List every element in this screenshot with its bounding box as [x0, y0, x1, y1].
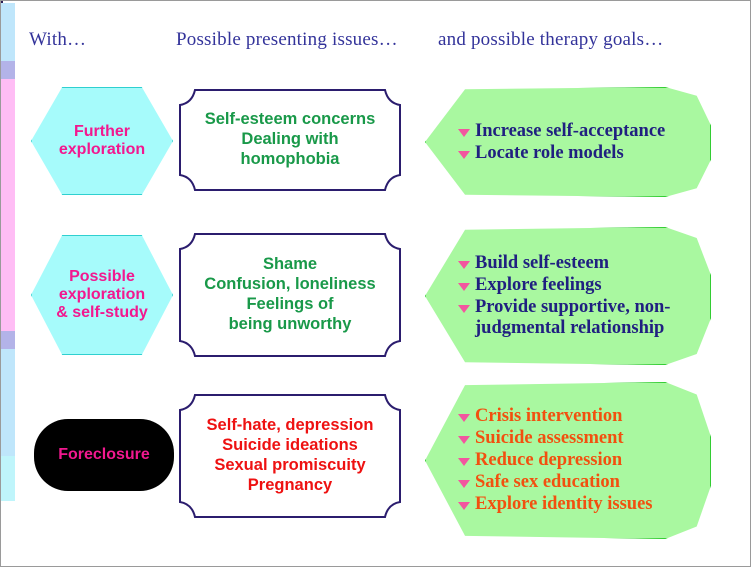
issues-card-further-exploration[interactable]: Self-esteem concernsDealing withhomophob…: [179, 89, 401, 191]
goal-item: Reduce depression: [458, 450, 702, 471]
triangle-bullet-icon: [458, 129, 470, 137]
goal-item: Safe sex education: [458, 472, 702, 493]
triangle-bullet-icon: [458, 283, 470, 291]
goals-shape-further-exploration[interactable]: Increase self-acceptanceLocate role mode…: [425, 87, 711, 197]
triangle-bullet-icon: [458, 436, 470, 444]
goal-item: Crisis intervention: [458, 406, 702, 427]
goal-item-label: Reduce depression: [475, 450, 622, 470]
goals-shape-foreclosure[interactable]: Crisis interventionSuicide assessmentRed…: [425, 382, 711, 539]
goal-item-label: Provide supportive, non-judgmental relat…: [475, 297, 670, 338]
goal-item-label: Suicide assessment: [475, 428, 624, 448]
slide-canvas: With… Possible presenting issues… and po…: [0, 0, 751, 567]
goal-item-label: Build self-esteem: [475, 253, 609, 273]
column-header-goals: and possible therapy goals…: [438, 29, 663, 51]
stage-shape-possible-exploration[interactable]: Possibleexploration& self-study: [31, 235, 173, 355]
goal-item-label: Increase self-acceptance: [475, 121, 665, 141]
goal-item-label: Locate role models: [475, 143, 624, 163]
table-row: FurtherexplorationSelf-esteem concernsDe…: [1, 87, 751, 207]
strip-segment-0: [1, 3, 15, 61]
triangle-bullet-icon: [458, 261, 470, 269]
goal-item-label: Explore identity issues: [475, 494, 652, 514]
issues-text-further-exploration: Self-esteem concernsDealing withhomophob…: [195, 110, 386, 169]
goal-item-label: Crisis intervention: [475, 406, 622, 426]
goal-item: Explore feelings: [458, 275, 702, 296]
goal-item: Explore identity issues: [458, 494, 702, 515]
triangle-bullet-icon: [458, 305, 470, 313]
stage-shape-foreclosure[interactable]: Foreclosure: [34, 419, 174, 491]
goal-item: Increase self-acceptance: [458, 121, 702, 142]
triangle-bullet-icon: [458, 502, 470, 510]
goal-item: Provide supportive, non-judgmental relat…: [458, 297, 702, 339]
goals-list-possible-exploration: Build self-esteemExplore feelingsProvide…: [426, 252, 710, 340]
issues-card-foreclosure[interactable]: Self-hate, depressionSuicide ideationsSe…: [179, 394, 401, 518]
triangle-bullet-icon: [458, 151, 470, 159]
issues-text-foreclosure: Self-hate, depressionSuicide ideationsSe…: [197, 416, 384, 495]
table-row: ForeclosureSelf-hate, depressionSuicide …: [1, 382, 751, 542]
issues-card-possible-exploration[interactable]: ShameConfusion, lonelinessFeelings ofbei…: [179, 233, 401, 357]
goals-list-further-exploration: Increase self-acceptanceLocate role mode…: [426, 120, 710, 165]
goal-item: Suicide assessment: [458, 428, 702, 449]
goal-item-label: Safe sex education: [475, 472, 620, 492]
triangle-bullet-icon: [458, 414, 470, 422]
table-row: Possibleexploration& self-studyShameConf…: [1, 227, 751, 367]
goals-shape-possible-exploration[interactable]: Build self-esteemExplore feelingsProvide…: [425, 227, 711, 365]
goal-item: Locate role models: [458, 143, 702, 164]
goal-item: Build self-esteem: [458, 253, 702, 274]
column-header-with: With…: [29, 29, 86, 51]
triangle-bullet-icon: [458, 458, 470, 466]
goals-list-foreclosure: Crisis interventionSuicide assessmentRed…: [426, 405, 710, 515]
issues-text-possible-exploration: ShameConfusion, lonelinessFeelings ofbei…: [194, 255, 385, 334]
stage-shape-further-exploration[interactable]: Furtherexploration: [31, 87, 173, 195]
stage-label-foreclosure: Foreclosure: [58, 446, 150, 464]
strip-segment-1: [1, 61, 15, 79]
stage-label-possible-exploration: Possibleexploration& self-study: [52, 268, 152, 322]
column-header-issues: Possible presenting issues…: [176, 29, 398, 51]
stage-label-further-exploration: Furtherexploration: [55, 123, 149, 159]
triangle-bullet-icon: [458, 480, 470, 488]
goal-item-label: Explore feelings: [475, 275, 602, 295]
